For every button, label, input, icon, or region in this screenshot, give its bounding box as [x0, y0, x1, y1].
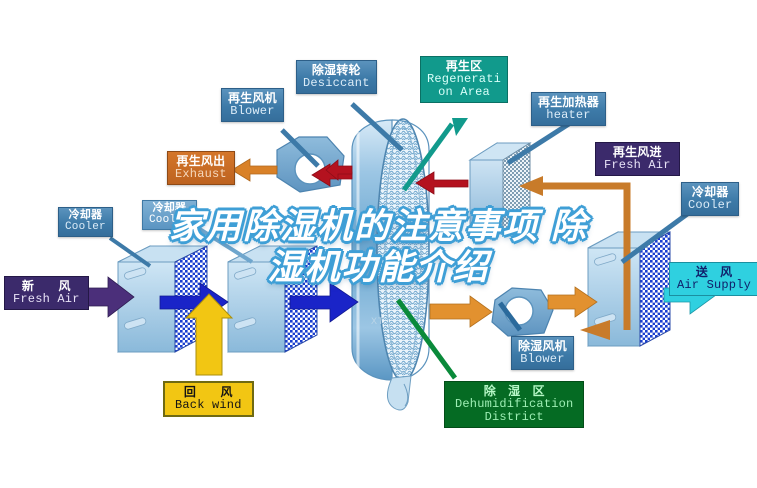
label-dehumidification-zone-cn: 除 湿 区: [455, 385, 573, 398]
label-fresh-air-in: 新 风 Fresh Air: [4, 276, 89, 310]
label-regen-heater-cn: 再生加热器: [538, 96, 599, 109]
label-regen-blower-en: Blower: [228, 105, 277, 118]
label-cooler-left-a-en: Cooler: [65, 222, 106, 234]
label-regen-heater-en: heater: [538, 109, 599, 122]
label-air-supply-en: Air Supply: [677, 279, 751, 292]
label-cooler-right-en: Cooler: [688, 199, 732, 212]
label-desiccant-wheel-en: Desiccant: [303, 77, 370, 90]
diagram-artwork: [0, 0, 757, 488]
label-cooler-right: 冷却器 Cooler: [681, 182, 739, 216]
label-regen-fresh-air-cn: 再生风进: [604, 146, 671, 159]
label-back-wind-en: Back wind: [175, 399, 242, 412]
label-dehum-blower: 除湿风机 Blower: [511, 336, 574, 370]
label-dehumidification-zone-en2: District: [455, 411, 573, 424]
label-air-supply-cn: 送 风: [677, 266, 751, 279]
label-cooler-left-b: 冷却器 Cooler: [142, 200, 197, 230]
label-regen-fresh-air-en: Fresh Air: [604, 159, 671, 172]
arrow-rotor-to-dehum-blower: [430, 296, 492, 327]
label-dehumidification-zone: 除 湿 区 Dehumidification District: [444, 381, 584, 428]
label-regen-fresh-air: 再生风进 Fresh Air: [595, 142, 680, 176]
label-regeneration-area-cn: 再生区: [427, 60, 501, 73]
label-fresh-air-in-cn: 新 风: [13, 280, 80, 293]
label-cooler-left-b-en: Cooler: [149, 215, 190, 227]
label-regen-exhaust: 再生风出 Exhaust: [167, 151, 235, 185]
label-cooler-left-a: 冷却器 Cooler: [58, 207, 113, 237]
callout-tail-regeneration: [452, 118, 468, 136]
label-regeneration-area-en1: Regenerati: [427, 73, 501, 86]
label-regen-heater: 再生加热器 heater: [531, 92, 606, 126]
label-desiccant-wheel-cn: 除湿转轮: [303, 64, 370, 77]
label-dehumidification-zone-en1: Dehumidification: [455, 398, 573, 411]
arrow-regen-exhaust: [232, 159, 277, 181]
dehumidifier-diagram: XT 除湿转轮 Desiccant 再生风机 Blower 再生风出 Exhau…: [0, 0, 757, 488]
label-cooler-right-cn: 冷却器: [688, 186, 732, 199]
rotor-watermark: XT: [371, 316, 385, 326]
label-fresh-air-in-en: Fresh Air: [13, 293, 80, 306]
label-regeneration-area: 再生区 Regenerati on Area: [420, 56, 508, 103]
label-regen-blower-cn: 再生风机: [228, 92, 277, 105]
label-desiccant-wheel: 除湿转轮 Desiccant: [296, 60, 377, 94]
label-dehum-blower-en: Blower: [518, 353, 567, 366]
desiccant-rotor: [352, 119, 429, 410]
label-regen-blower: 再生风机 Blower: [221, 88, 284, 122]
dehum-blower-unit: [492, 288, 553, 336]
label-back-wind: 回 风 Back wind: [163, 381, 254, 417]
label-dehum-blower-cn: 除湿风机: [518, 340, 567, 353]
label-back-wind-cn: 回 风: [175, 386, 242, 399]
label-regeneration-area-en2: on Area: [427, 86, 501, 99]
label-air-supply: 送 风 Air Supply: [669, 262, 757, 296]
label-regen-exhaust-en: Exhaust: [175, 168, 227, 181]
label-regen-exhaust-cn: 再生风出: [175, 155, 227, 168]
